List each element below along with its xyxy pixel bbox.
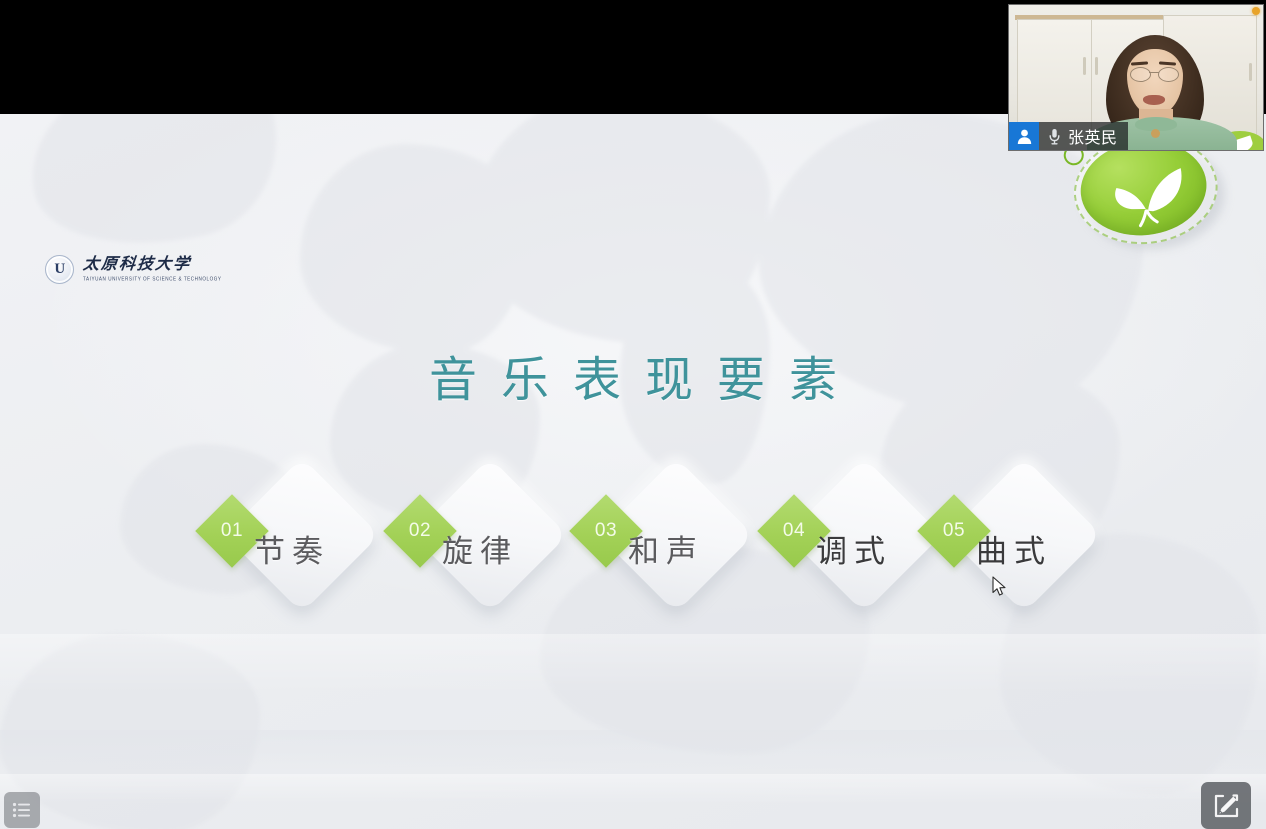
step-number: 05: [928, 505, 980, 557]
participant-video-overlay[interactable]: 张英民: [1008, 4, 1264, 151]
university-name-block: 太原科技大学 TAIYUAN UNIVERSITY OF SCIENCE & T…: [83, 257, 221, 282]
step-label: 旋律: [442, 526, 562, 571]
recording-indicator: [1252, 7, 1260, 15]
step-item-02[interactable]: 02 旋律: [394, 464, 584, 654]
participant-avatar: [1009, 122, 1039, 150]
pencil-annotate-icon: [1212, 792, 1240, 820]
step-item-05[interactable]: 05 曲式: [928, 464, 1118, 654]
participant-name: 张英民: [1068, 124, 1118, 148]
university-name-en: TAIYUAN UNIVERSITY OF SCIENCE & TECHNOLO…: [83, 277, 221, 282]
university-seal-icon: [45, 255, 74, 284]
participant-nameplate: 张英民: [1009, 122, 1128, 150]
presentation-viewer: 太原科技大学 TAIYUAN UNIVERSITY OF SCIENCE & T…: [0, 0, 1266, 829]
step-number: 04: [768, 505, 820, 557]
step-item-01[interactable]: 01 节奏: [206, 464, 396, 654]
step-number: 03: [580, 505, 632, 557]
background-band: [0, 730, 1266, 770]
participant-glasses: [1130, 67, 1180, 80]
step-number: 01: [206, 505, 258, 557]
person-icon: [1016, 128, 1033, 145]
step-item-03[interactable]: 03 和声: [580, 464, 770, 654]
step-label: 节奏: [254, 526, 374, 571]
step-diamond-row: 01 节奏 02 旋律 03 和声 04: [0, 464, 1266, 654]
step-label: 曲式: [976, 526, 1096, 571]
annotate-button[interactable]: [1201, 782, 1251, 829]
slide-title: 音乐表现要素: [0, 340, 1266, 410]
microphone-icon: [1048, 128, 1061, 145]
microphone-icon-wrap[interactable]: [1043, 128, 1065, 145]
slide-list-button[interactable]: [4, 792, 40, 828]
university-name-cn: 太原科技大学: [82, 257, 222, 273]
step-number: 02: [394, 505, 446, 557]
list-icon: [12, 802, 32, 818]
background-band: [0, 774, 1266, 804]
university-logo: 太原科技大学 TAIYUAN UNIVERSITY OF SCIENCE & T…: [45, 255, 221, 284]
step-label: 和声: [628, 526, 748, 571]
